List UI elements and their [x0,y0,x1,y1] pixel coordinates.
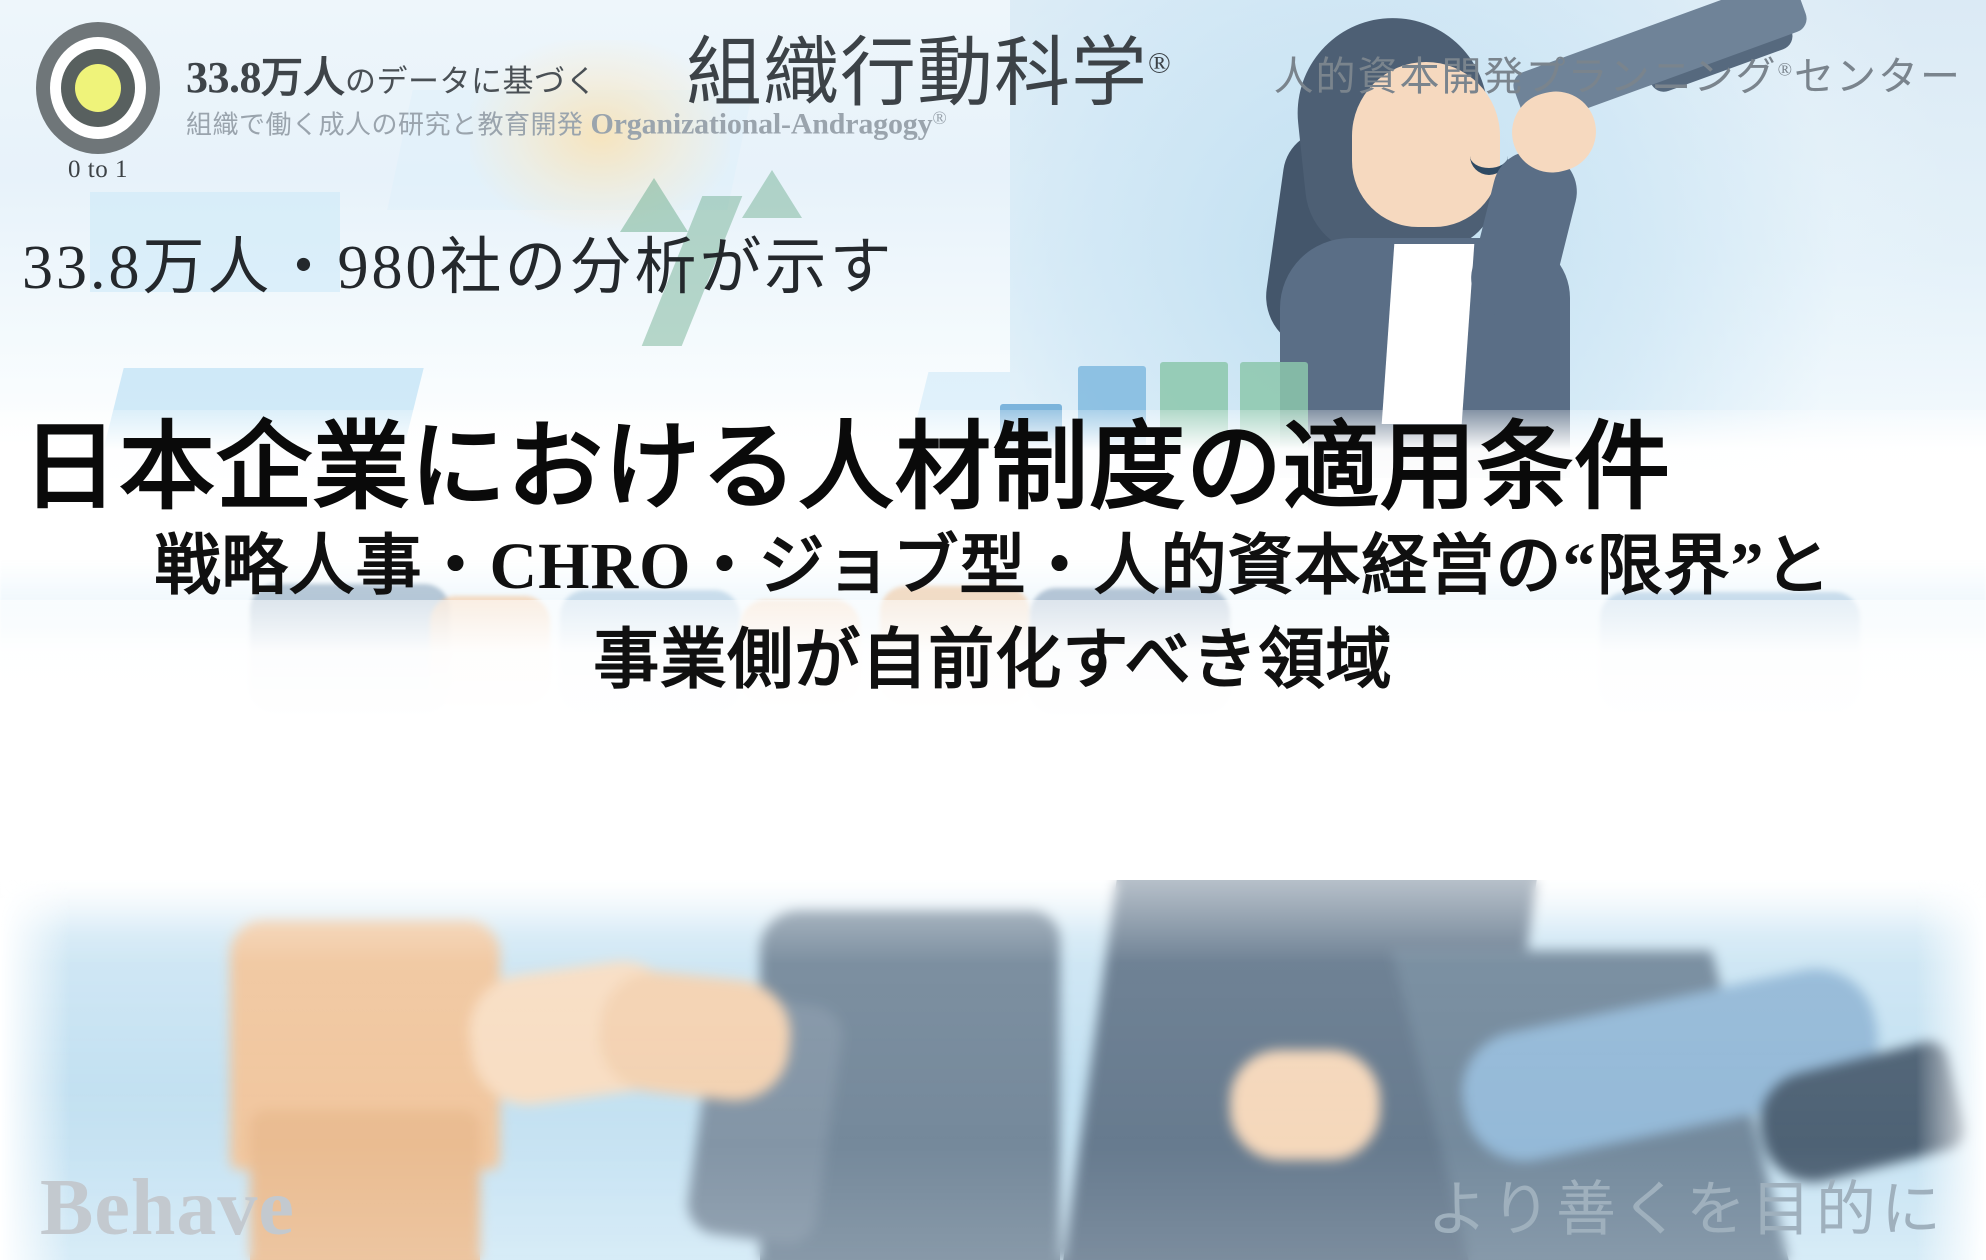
concentric-target-logo-icon [36,22,160,154]
logo-caption: 0 to 1 [30,156,166,184]
footer-wordmark: Behave [40,1168,295,1248]
poster-canvas: 0 to 1 33.8万人のデータに基づく 組織で働く成人の研究と教育開発 Or… [0,0,1986,1260]
brand-mark-large: 組織行動科学® [686,36,1172,112]
brand-stat-number: 33.8 [186,53,261,102]
hero-subhead-line-2: 事業側が自前化すべき領域 [0,614,1986,708]
brand-stat-unit: 万人 [261,56,345,102]
logo-center-dot [75,64,121,112]
page-title: 日本企業における人材制度の適用条件 [22,416,1964,520]
center-name-post: センター [1794,54,1962,99]
center-name: 人的資本開発プランニング®センター [1274,44,1962,102]
brand-stat-suffix: のデータに基づく [345,64,597,99]
brand-tagline-jp: 組織で働く成人の研究と教育開発 [186,111,584,140]
hero-subhead: 戦略人事・CHRO・ジョブ型・人的資本経営の“限界”と 事業側が自前化すべき領域 [0,520,1986,707]
poster-content: 0 to 1 33.8万人のデータに基づく 組織で働く成人の研究と教育開発 Or… [0,0,1986,1260]
hero-eyebrow: 33.8万人・980社の分析が示す [22,216,895,306]
center-name-registered-icon: ® [1778,60,1794,81]
brand-mark-text: 組織行動科学 [686,32,1148,116]
brand-logo: 0 to 1 [30,22,166,184]
center-name-pre: 人的資本開発プランニング [1274,54,1778,99]
brand-mark-registered-icon: ® [1148,47,1172,80]
hero-subhead-line-1: 戦略人事・CHRO・ジョブ型・人的資本経営の“限界”と [0,520,1986,614]
footer-tagline: より善くを目的に [1427,1180,1946,1240]
